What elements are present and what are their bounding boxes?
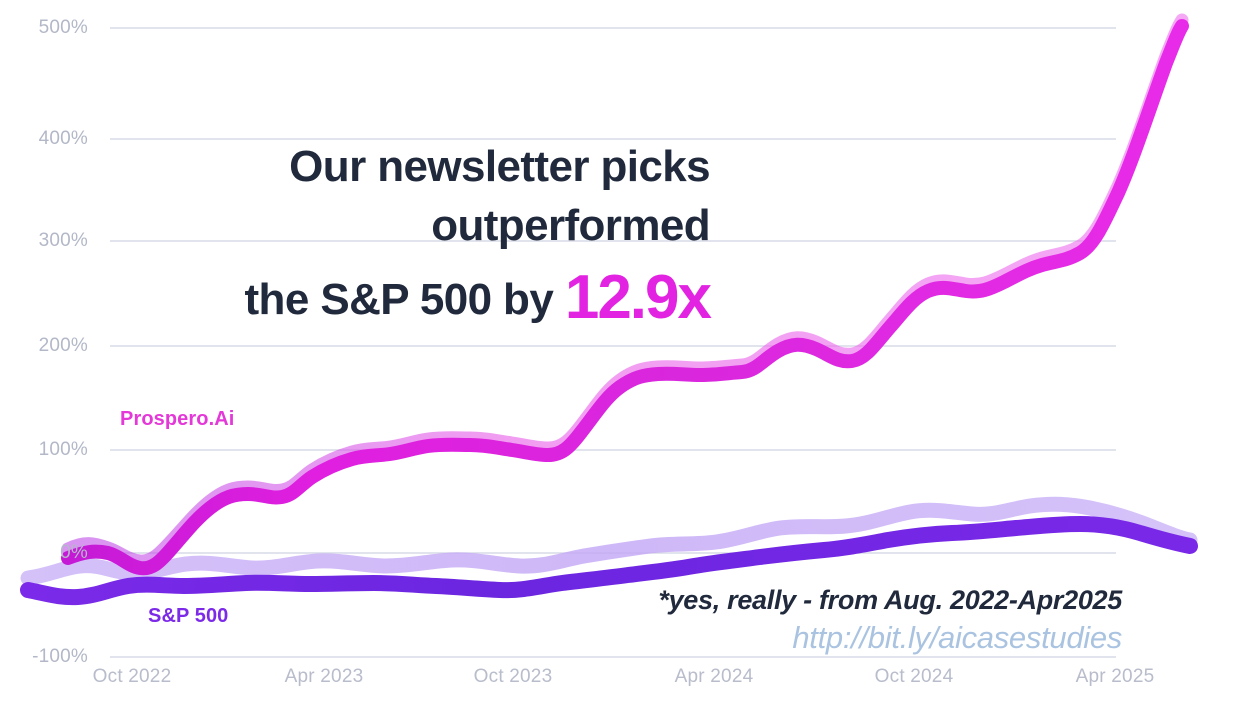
case-studies-link[interactable]: http://bit.ly/aicasestudies bbox=[792, 620, 1122, 656]
chart-canvas: 500% 400% 300% 200% 100% 0% -100% Oct 20… bbox=[0, 0, 1234, 720]
ytick-neg100: -100% bbox=[0, 646, 88, 668]
outperformance-multiple: 12.9x bbox=[565, 263, 710, 332]
headline-line-3: the S&P 500 by 12.9x bbox=[130, 256, 710, 339]
xtick-apr-2023: Apr 2023 bbox=[285, 666, 364, 688]
footnote-text: *yes, really - from Aug. 2022-Apr2025 bbox=[658, 585, 1122, 616]
xtick-apr-2024: Apr 2024 bbox=[675, 666, 754, 688]
xtick-apr-2025: Apr 2025 bbox=[1076, 666, 1155, 688]
headline-line-1: Our newsletter picks bbox=[130, 138, 710, 197]
page-title: Our newsletter picks outperformed the S&… bbox=[130, 138, 710, 339]
headline-line-2: outperformed bbox=[130, 197, 710, 256]
xtick-oct-2022: Oct 2022 bbox=[93, 666, 172, 688]
xtick-oct-2023: Oct 2023 bbox=[474, 666, 553, 688]
ytick-100: 100% bbox=[0, 439, 88, 461]
ytick-500: 500% bbox=[0, 17, 88, 39]
xtick-oct-2024: Oct 2024 bbox=[875, 666, 954, 688]
headline-line-3-prefix: the S&P 500 by bbox=[245, 275, 565, 324]
ytick-200: 200% bbox=[0, 335, 88, 357]
ytick-300: 300% bbox=[0, 230, 88, 252]
ytick-400: 400% bbox=[0, 128, 88, 150]
series-label-sp500: S&P 500 bbox=[148, 605, 228, 628]
ytick-0: 0% bbox=[0, 542, 88, 564]
series-label-prospero: Prospero.Ai bbox=[120, 408, 234, 431]
